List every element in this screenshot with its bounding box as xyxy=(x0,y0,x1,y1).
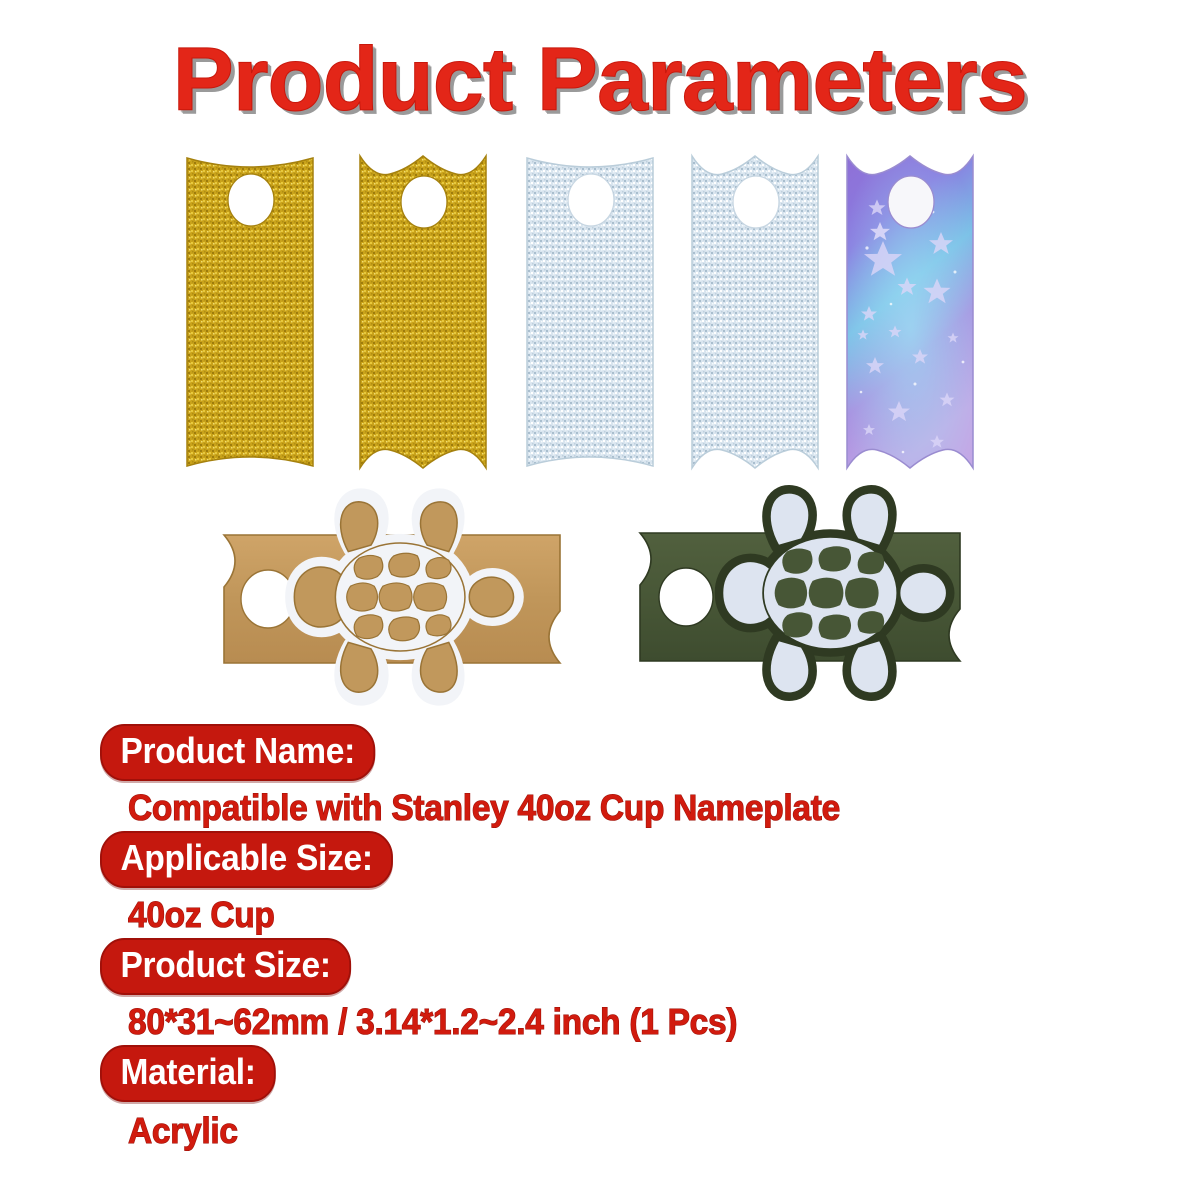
tag-hole xyxy=(888,176,934,228)
spec-value-product-size: 80*31~62mm / 3.14*1.2~2.4 inch (1 Pcs) xyxy=(128,999,1125,1045)
title-bar: Product Parameters xyxy=(0,34,1200,126)
tag-gold-glitter-curved[interactable] xyxy=(185,152,315,472)
sea-turtle-overlay xyxy=(292,495,517,698)
tag-silver-glitter-curved[interactable] xyxy=(525,152,655,472)
tag-hole xyxy=(401,176,447,228)
spec-row-product-name: Product Name: Compatible with Stanley 40… xyxy=(0,724,1200,831)
spec-value-product-name: Compatible with Stanley 40oz Cup Namepla… xyxy=(128,785,1125,831)
spec-row-applicable-size: Applicable Size: 40oz Cup xyxy=(0,831,1200,938)
product-spec-list: Product Name: Compatible with Stanley 40… xyxy=(0,724,1200,1154)
spec-value-material: Acrylic xyxy=(128,1108,1125,1154)
spec-label-product-name: Product Name: xyxy=(100,724,375,781)
spec-label-applicable-size: Applicable Size: xyxy=(100,831,393,888)
tag-gold-glitter-wavy[interactable] xyxy=(358,152,488,472)
tag-silver-glitter-wavy[interactable] xyxy=(690,152,820,472)
tag-galaxy-stars[interactable] xyxy=(845,152,977,472)
tag-tan-turtle[interactable] xyxy=(212,475,572,720)
tag-hole xyxy=(733,176,779,228)
turtle-shell xyxy=(763,537,897,649)
spec-row-product-size: Product Size: 80*31~62mm / 3.14*1.2~2.4 … xyxy=(0,938,1200,1045)
product-image-gallery xyxy=(0,130,1200,720)
tag-hole xyxy=(228,174,274,226)
spec-row-material: Material: Acrylic xyxy=(0,1045,1200,1154)
tag-green-turtle[interactable] xyxy=(628,475,973,720)
page-title: Product Parameters xyxy=(173,34,1027,126)
spec-value-applicable-size: 40oz Cup xyxy=(128,892,1125,938)
sea-turtle-overlay xyxy=(722,493,946,693)
turtle-shell xyxy=(335,543,465,651)
spec-label-product-size: Product Size: xyxy=(100,938,351,995)
tag-hole xyxy=(568,174,614,226)
spec-label-material: Material: xyxy=(100,1045,276,1102)
tag-hole xyxy=(659,568,713,626)
